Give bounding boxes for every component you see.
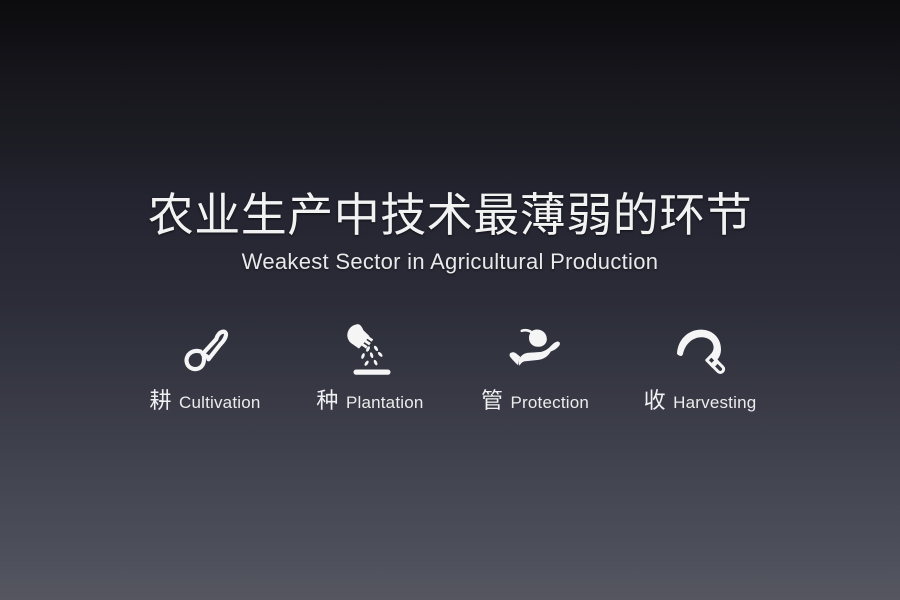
stage-item-plantation[interactable]: 种 Plantation [295, 322, 445, 414]
stage-label-protection-cn: 管 [481, 390, 504, 412]
stage-label-cultivation: 耕 Cultivation [149, 390, 260, 414]
stage-label-harvesting-en: Harvesting [673, 392, 756, 414]
stage-label-plantation-cn: 种 [316, 390, 339, 412]
sickle-icon [672, 322, 728, 378]
stage-item-protection[interactable]: 管 Protection [460, 322, 610, 414]
hand-holding-leaf-icon [506, 322, 564, 378]
stage-label-plantation-en: Plantation [346, 392, 424, 414]
page-subtitle-english: Weakest Sector in Agricultural Productio… [0, 248, 900, 276]
stage-item-cultivation[interactable]: 耕 Cultivation [130, 322, 280, 414]
shovel-icon [178, 322, 232, 378]
page-title-chinese: 农业生产中技术最薄弱的环节 [0, 188, 900, 242]
stage-label-harvesting: 收 Harvesting [644, 390, 757, 414]
stage-icon-row: 耕 Cultivation [130, 322, 775, 417]
presentation-slide: 农业生产中技术最薄弱的环节 Weakest Sector in Agricult… [0, 0, 900, 600]
hand-sowing-seeds-icon [343, 322, 397, 378]
stage-label-cultivation-cn: 耕 [149, 390, 172, 412]
title-block: 农业生产中技术最薄弱的环节 Weakest Sector in Agricult… [0, 188, 900, 276]
stage-label-plantation: 种 Plantation [316, 390, 423, 414]
stage-label-cultivation-en: Cultivation [179, 392, 261, 414]
stage-label-harvesting-cn: 收 [644, 390, 667, 412]
stage-label-protection-en: Protection [510, 392, 589, 414]
stage-label-protection: 管 Protection [481, 390, 589, 414]
stage-item-harvesting[interactable]: 收 Harvesting [625, 322, 775, 414]
